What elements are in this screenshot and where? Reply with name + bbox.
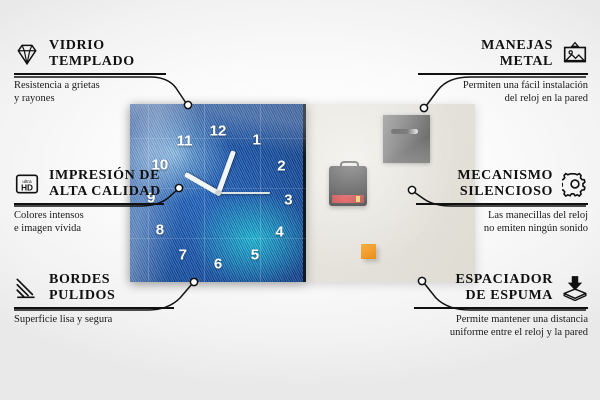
clock-numeral-1: 1: [253, 133, 261, 148]
feature-title-line1: BORDES: [49, 272, 115, 288]
feature-desc-line2: e imagen vívida: [14, 222, 180, 235]
feature-desc-line1: Colores intensos: [14, 209, 180, 222]
foam-spacer: [361, 244, 376, 259]
feature-desc-line1: Las manecillas del reloj: [408, 209, 588, 222]
feature-desc-line1: Superficie lisa y segura: [14, 313, 182, 326]
clock-numeral-3: 3: [284, 193, 292, 208]
ultra-hd-icon: ultra HD: [14, 171, 40, 197]
clock-numeral-11: 11: [177, 134, 193, 149]
feature-callout-espaciador: ESPACIADOR DE ESPUMA Permite mantener un…: [406, 272, 588, 339]
feature-title-line2: TEMPLADO: [49, 54, 135, 70]
feature-desc-line2: del reloj en la pared: [410, 92, 588, 105]
clock-numeral-12: 12: [210, 123, 227, 138]
clock-numeral-2: 2: [277, 159, 285, 174]
infographic-canvas: 12 1 2 3 4 5 6 7 8 9 10 11: [0, 0, 600, 400]
feature-title-line2: ALTA CALIDAD: [49, 184, 161, 200]
feature-title-line1: ESPACIADOR: [455, 272, 553, 288]
callout-rule: [14, 307, 174, 309]
clock-numeral-6: 6: [214, 257, 222, 272]
feature-title-line2: SILENCIOSO: [457, 184, 553, 200]
ultra-hd-icon-main-text: HD: [21, 183, 33, 192]
clock-hour-hand: [184, 172, 219, 195]
feature-title-line1: MANEJAS: [481, 38, 553, 54]
quartz-movement: [329, 166, 367, 206]
feature-title-line2: PULIDOS: [49, 288, 115, 304]
feature-title-line1: VIDRIO: [49, 38, 135, 54]
feature-callout-manejas: MANEJAS METAL Permiten una fácil instala…: [410, 38, 588, 105]
feature-desc-line1: Resistencia a grietas: [14, 79, 174, 92]
clock-center-pin: [216, 191, 221, 196]
callout-rule: [14, 73, 166, 75]
feature-title-line2: METAL: [481, 54, 553, 70]
callout-rule: [14, 203, 164, 205]
feature-callout-impresion: ultra HD IMPRESIÓN DE ALTA CALIDAD Color…: [14, 168, 180, 235]
clock-second-hand: [218, 192, 270, 193]
gear-icon: [562, 171, 588, 197]
callout-rule: [416, 203, 588, 205]
feature-desc-line1: Permiten una fácil instalación: [410, 79, 588, 92]
feature-desc-line2: no emiten ningún sonido: [408, 222, 588, 235]
hanger-slot: [391, 129, 418, 134]
callout-rule: [414, 307, 588, 309]
callout-rule: [418, 73, 588, 75]
battery: [332, 195, 364, 203]
clock-minute-hand: [216, 150, 236, 194]
feature-desc-line2: y rayones: [14, 92, 174, 105]
feature-desc-line1: Permite mantener una distancia: [406, 313, 588, 326]
clock-numeral-5: 5: [251, 248, 259, 263]
feature-callout-vidrio: VIDRIO TEMPLADO Resistencia a grietas y …: [14, 38, 174, 105]
feature-title-line2: DE ESPUMA: [455, 288, 553, 304]
hanging-picture-icon: [562, 41, 588, 67]
clock-numeral-4: 4: [275, 225, 283, 240]
feature-callout-mecanismo: MECANISMO SILENCIOSO Las manecillas del …: [408, 168, 588, 235]
feature-title-line1: IMPRESIÓN DE: [49, 168, 161, 184]
feature-title-line1: MECANISMO: [457, 168, 553, 184]
clock-numeral-7: 7: [179, 248, 187, 263]
feature-callout-bordes: BORDES PULIDOS Superficie lisa y segura: [14, 272, 182, 326]
metal-hanger-plate: [383, 115, 430, 163]
feature-desc-line2: uniforme entre el reloj y la pared: [406, 326, 588, 339]
diamond-icon: [14, 41, 40, 67]
foam-spacer-arrow-icon: [562, 275, 588, 301]
hanger-loop: [340, 161, 359, 171]
beveled-edge-icon: [14, 275, 40, 301]
